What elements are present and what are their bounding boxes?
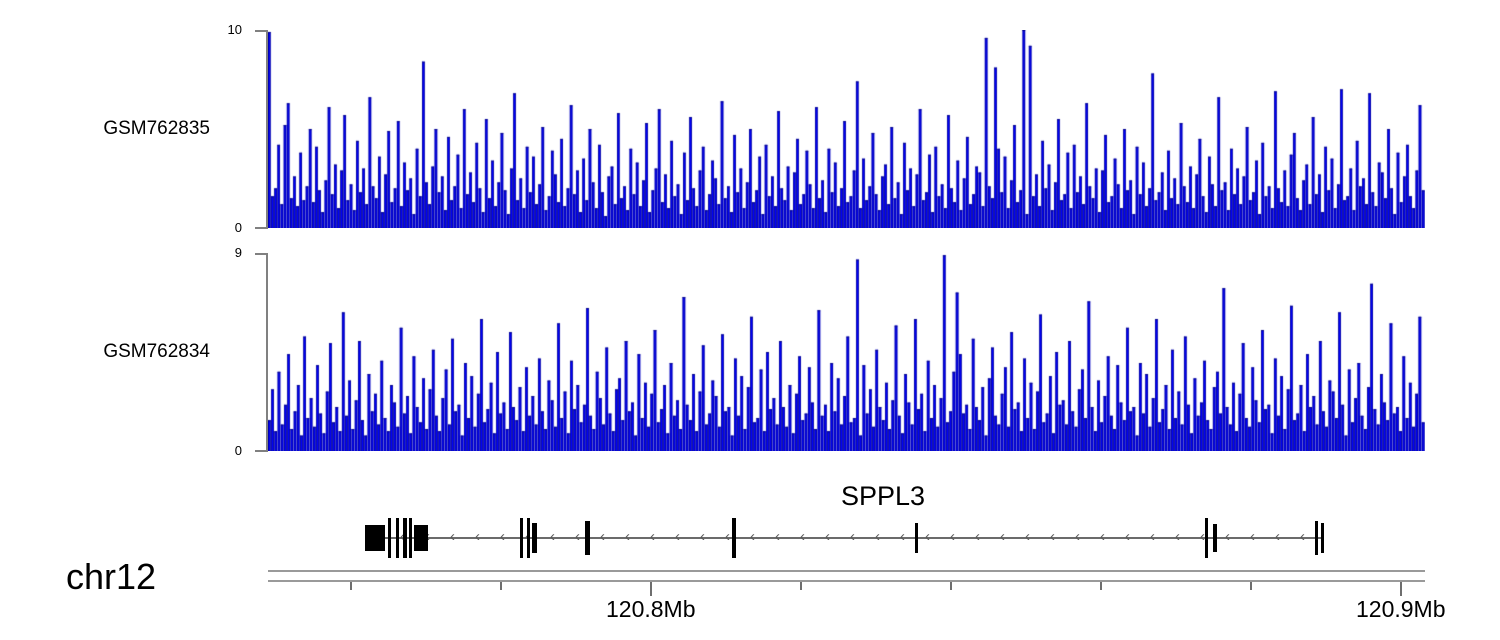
- ruler-ticks: [0, 0, 1500, 640]
- genome-browser-figure: GSM762835 10 0 GSM762834 9 0 SPPL3 ‹‹‹‹‹…: [0, 0, 1500, 640]
- ruler-major-tick: [1400, 582, 1402, 596]
- ruler-major-tick: [650, 582, 652, 596]
- ruler-minor-tick: [800, 582, 802, 590]
- ruler-minor-tick: [500, 582, 502, 590]
- ruler-minor-tick: [1100, 582, 1102, 590]
- ruler-tick-label-0: 120.8Mb: [606, 596, 696, 623]
- ruler-tick-label-1: 120.9Mb: [1356, 596, 1446, 623]
- ruler-minor-tick: [950, 582, 952, 590]
- ruler-minor-tick: [350, 582, 352, 590]
- ruler-minor-tick: [1250, 582, 1252, 590]
